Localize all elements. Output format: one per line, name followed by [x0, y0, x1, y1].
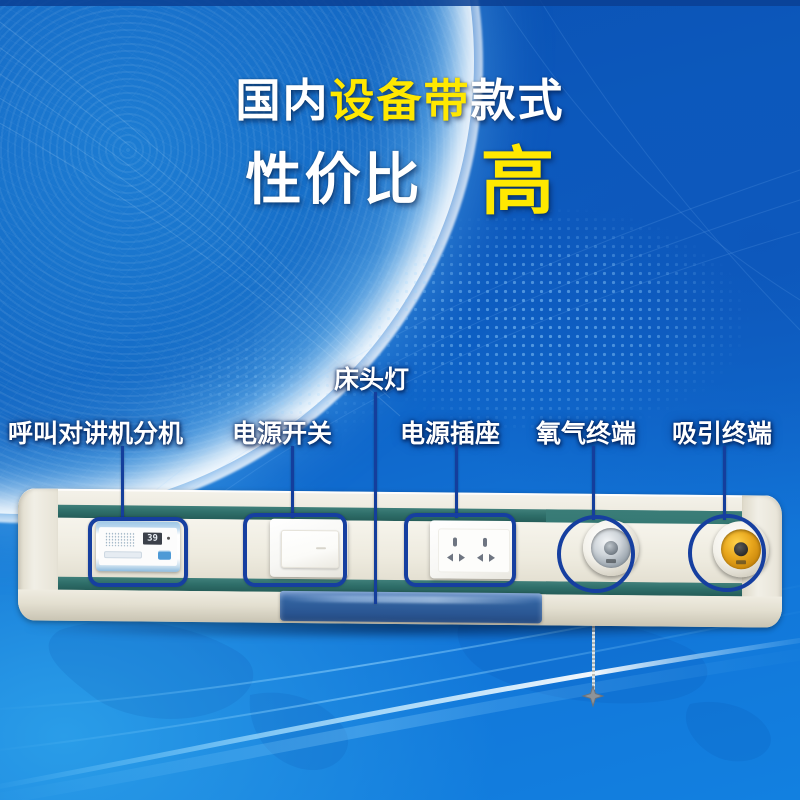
- highlight-box-intercom: [88, 517, 188, 587]
- callout-label-socket: 电源插座: [400, 414, 500, 450]
- highlight-circle-oxygen: [557, 515, 635, 593]
- oxygen-pull-cord[interactable]: [592, 632, 595, 690]
- highlight-box-switch: [243, 513, 347, 587]
- callout-label-oxygen: 氧气终端: [536, 414, 636, 450]
- promo-banner: 国内设备带款式 性价比高 呼叫对讲机分机 电源开关 床头灯 电源插座 氧气终端 …: [0, 0, 800, 800]
- highlight-circle-suction: [688, 514, 766, 592]
- leader-line-oxygen: [592, 446, 595, 520]
- leader-line-suction: [723, 446, 726, 520]
- leader-line-intercom: [121, 446, 124, 518]
- oxygen-pull-cord-handle-icon[interactable]: [580, 684, 606, 710]
- leader-line-bedlamp: [374, 392, 377, 604]
- callout-label-group: 呼叫对讲机分机 电源开关 床头灯 电源插座 氧气终端 吸引终端: [0, 0, 800, 500]
- callout-label-bedlamp: 床头灯: [334, 360, 409, 396]
- callout-label-switch: 电源开关: [232, 414, 332, 450]
- callout-label-intercom: 呼叫对讲机分机: [8, 414, 183, 450]
- leader-line-switch: [291, 446, 294, 518]
- callout-label-suction: 吸引终端: [672, 414, 772, 450]
- leader-line-socket: [455, 446, 458, 518]
- highlight-box-socket: [404, 513, 516, 587]
